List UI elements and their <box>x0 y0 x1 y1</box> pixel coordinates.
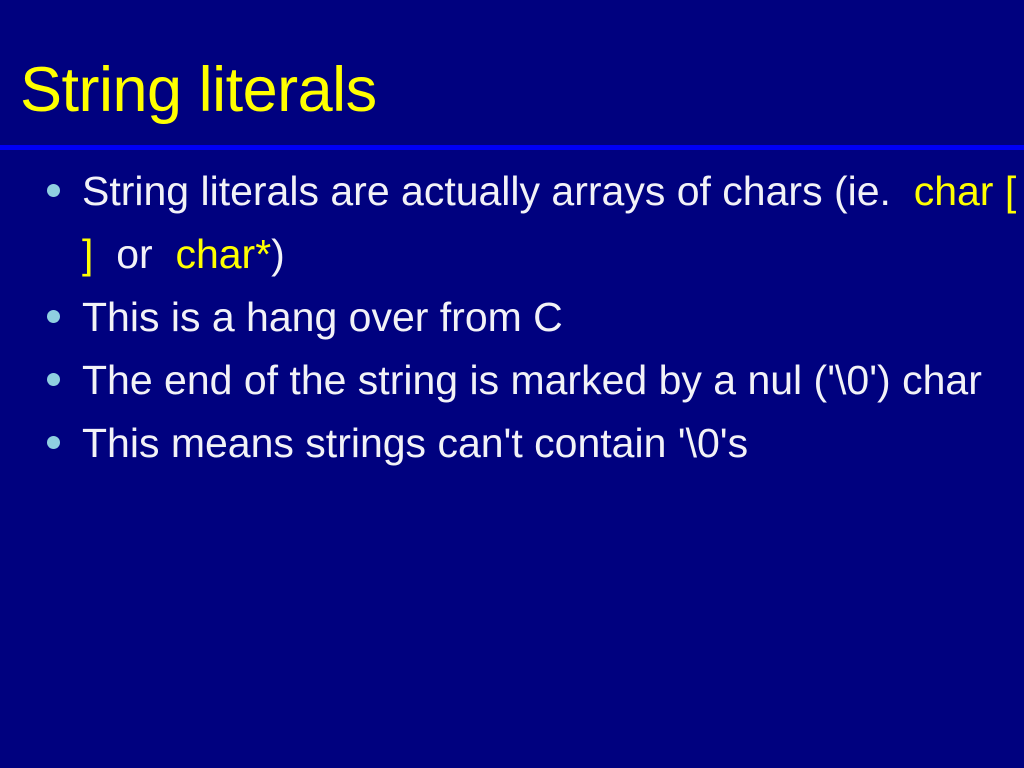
disc-bullet-icon <box>47 373 60 386</box>
bullet-text: This is a hang over from C <box>82 294 563 340</box>
bullet-list: String literals are actually arrays of c… <box>0 160 1024 475</box>
bullet-text: ) <box>271 231 285 277</box>
list-item: String literals are actually arrays of c… <box>0 160 1024 286</box>
list-item: The end of the string is marked by a nul… <box>0 349 1024 412</box>
inline-code-text: char* <box>175 231 271 277</box>
disc-bullet-icon <box>47 310 60 323</box>
bullet-text: String literals are actually arrays of c… <box>82 168 914 214</box>
disc-bullet-icon <box>47 436 60 449</box>
slide-title-area: String literals <box>0 0 1024 146</box>
bullet-text: The end of the string is marked by a nul… <box>82 357 982 403</box>
presentation-slide: String literals String literals are actu… <box>0 0 1024 768</box>
title-divider-rule <box>0 145 1024 150</box>
bullet-text: This means strings can't contain '\0's <box>82 420 748 466</box>
disc-bullet-icon <box>47 184 60 197</box>
bullet-text: or <box>93 231 175 277</box>
page-title: String literals <box>20 56 377 124</box>
list-item: This is a hang over from C <box>0 286 1024 349</box>
list-item: This means strings can't contain '\0's <box>0 412 1024 475</box>
